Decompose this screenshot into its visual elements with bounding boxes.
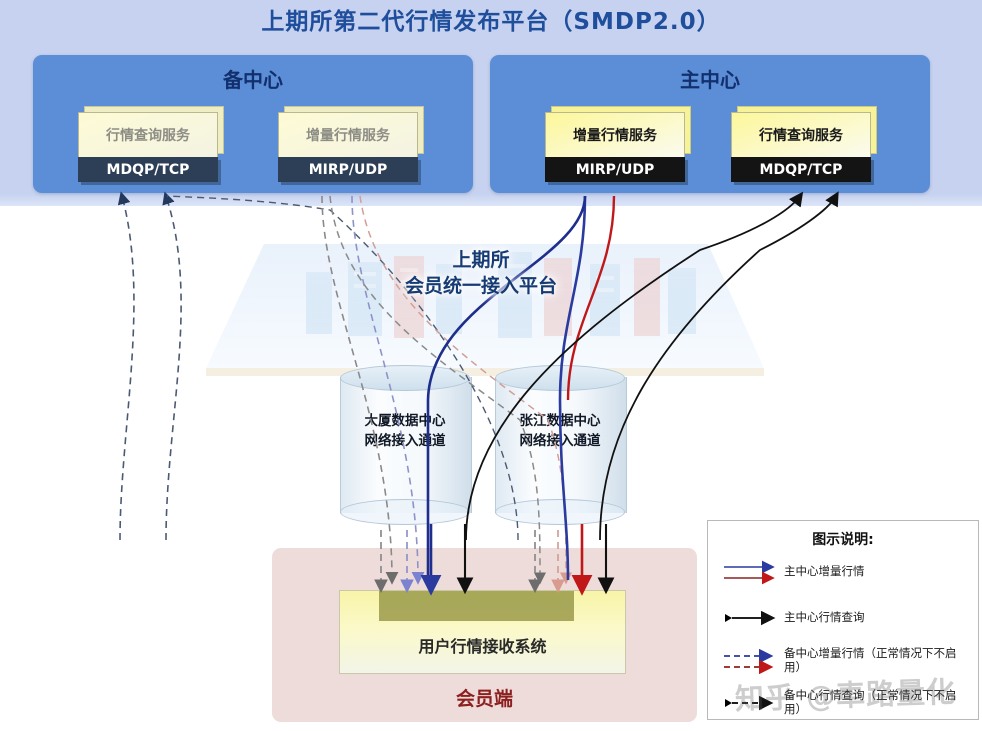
- legend-swatch: [722, 690, 784, 716]
- legend-row-backup-query: 备中心行情查询（正常情况下不启用）: [722, 689, 972, 717]
- channel-cylinder-zhangjiang: 张江数据中心 网络接入通道: [495, 365, 625, 525]
- cylinder-bottom: [340, 499, 470, 525]
- platform-label: 上期所 会员统一接入平台: [198, 248, 764, 299]
- platform-label-line1: 上期所: [452, 249, 509, 271]
- main-center-title: 主中心: [490, 64, 930, 93]
- service-name: 行情查询服务: [731, 112, 871, 158]
- wire-backup-query-1: [120, 196, 134, 540]
- legend-label: 主中心行情查询: [784, 611, 865, 625]
- legend-label: 备中心增量行情（正常情况下不启用）: [784, 647, 972, 675]
- legend-row-backup-feed: 备中心增量行情（正常情况下不启用）: [722, 647, 972, 675]
- member-side-panel: 用户行情接收系统 会员端: [272, 548, 697, 722]
- service-protocol: MIRP/UDP: [545, 157, 685, 182]
- service-protocol: MIRP/UDP: [278, 157, 418, 182]
- channel-cylinder-dasha: 大厦数据中心 网络接入通道: [340, 365, 470, 525]
- wire-backup-query-2: [166, 196, 181, 540]
- cylinder-top: [495, 365, 625, 391]
- legend-symbol-main-query: [722, 605, 784, 631]
- legend-box: 图示说明: 主中心增量行情 主中心行情查询: [707, 520, 979, 720]
- legend-row-main-query: 主中心行情查询: [722, 605, 972, 631]
- service-protocol: MDQP/TCP: [731, 157, 871, 182]
- channel-label-line1: 张江数据中心: [520, 413, 601, 429]
- service-name: 行情查询服务: [78, 112, 218, 158]
- service-name: 增量行情服务: [278, 112, 418, 158]
- legend-swatch: [722, 559, 784, 585]
- page-title: 上期所第二代行情发布平台（SMDP2.0）: [0, 2, 982, 36]
- platform-label-line2: 会员统一接入平台: [405, 275, 557, 297]
- legend-symbol-main-feed: [722, 559, 784, 585]
- access-platform-illustration: 上期所 会员统一接入平台: [198, 228, 764, 388]
- legend-swatch: [722, 605, 784, 631]
- cylinder-bottom: [495, 499, 625, 525]
- member-panel-title: 会员端: [272, 684, 697, 711]
- legend-label: 备中心行情查询（正常情况下不启用）: [784, 689, 972, 717]
- legend-swatch: [722, 648, 784, 674]
- legend-label: 主中心增量行情: [784, 565, 865, 579]
- legend-symbol-backup-query: [722, 690, 784, 716]
- member-receiver-label: 用户行情接收系统: [340, 633, 625, 657]
- service-box-backup-mirp[interactable]: 增量行情服务 MIRP/UDP: [278, 112, 418, 182]
- legend-row-main-feed: 主中心增量行情: [722, 559, 972, 585]
- service-box-main-mdqp[interactable]: 行情查询服务 MDQP/TCP: [731, 112, 871, 182]
- channel-label: 大厦数据中心 网络接入通道: [340, 411, 470, 452]
- legend-title: 图示说明:: [708, 529, 978, 549]
- member-receiver-box[interactable]: 用户行情接收系统: [339, 590, 626, 674]
- service-protocol: MDQP/TCP: [78, 157, 218, 182]
- backup-center-title: 备中心: [33, 64, 473, 93]
- cylinder-top: [340, 365, 470, 391]
- service-box-main-mirp[interactable]: 增量行情服务 MIRP/UDP: [545, 112, 685, 182]
- receiver-band: [379, 591, 574, 621]
- service-name: 增量行情服务: [545, 112, 685, 158]
- legend-symbol-backup-feed: [722, 648, 784, 674]
- channel-label-line1: 大厦数据中心: [365, 413, 446, 429]
- channel-label-line2: 网络接入通道: [365, 433, 446, 449]
- diagram-canvas: 上期所第二代行情发布平台（SMDP2.0） 备中心 行情查询服务 MDQP/TC…: [0, 0, 982, 731]
- service-box-backup-mdqp[interactable]: 行情查询服务 MDQP/TCP: [78, 112, 218, 182]
- channel-label-line2: 网络接入通道: [520, 433, 601, 449]
- channel-label: 张江数据中心 网络接入通道: [495, 411, 625, 452]
